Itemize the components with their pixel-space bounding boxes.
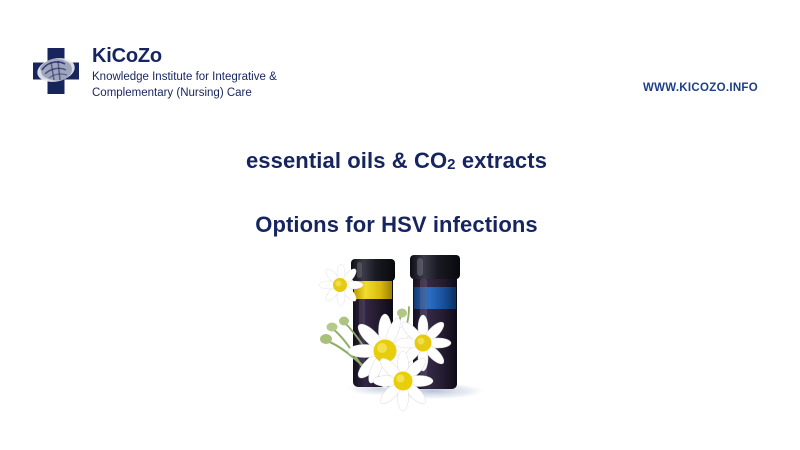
brand-name: KiCoZo (92, 46, 277, 67)
presentation-slide: KiCoZo Knowledge Institute for Integrati… (0, 0, 800, 450)
brand-lockup: KiCoZo Knowledge Institute for Integrati… (30, 45, 277, 102)
product-photo-vials-and-chamomile (305, 245, 515, 420)
brand-tagline-line-1: Knowledge Institute for Integrative & (92, 71, 277, 83)
chamomile-flower-bottom (373, 351, 433, 411)
site-url[interactable]: WWW.KICOZO.INFO (643, 82, 758, 94)
brand-tagline-line-2: Complementary (Nursing) Care (92, 87, 252, 99)
brand-tagline: Knowledge Institute for Integrative & Co… (92, 70, 277, 102)
slide-title-secondary: Options for HSV infections (0, 212, 793, 238)
brand-text-block: KiCoZo Knowledge Institute for Integrati… (92, 45, 277, 102)
medical-cross-logo-icon (30, 46, 82, 96)
slide-title-primary-before: essential oils & CO (246, 148, 447, 173)
slide-title-primary-after: extracts (456, 148, 547, 173)
title-block: essential oils & CO2 extracts Options fo… (0, 148, 793, 238)
slide-title-primary: essential oils & CO2 extracts (0, 148, 793, 174)
slide-title-subscript: 2 (447, 156, 455, 173)
